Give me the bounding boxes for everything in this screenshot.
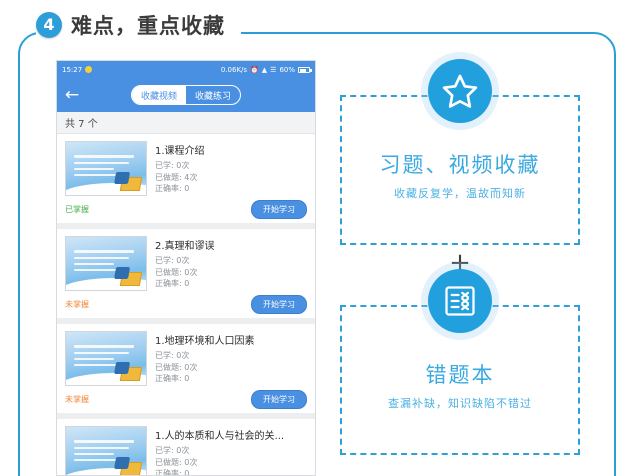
signal-icon: ☰ (270, 66, 276, 74)
battery-percent: 60% (279, 66, 295, 74)
alarm-icon: ⏰ (250, 66, 259, 74)
list-item[interactable]: 1.课程介绍 已学: 0次 已做题: 4次 正确率: 0 已掌握 开始学习 (57, 134, 315, 229)
network-speed: 0.06K/s (221, 66, 247, 74)
tab-collected-exercises[interactable]: 收藏练习 (186, 85, 240, 105)
feature-subtitle: 收藏反复学，温故而知新 (342, 185, 578, 201)
phone-status-bar: 15:27 0.06K/s ⏰ ▲ ☰ 60% (57, 61, 315, 78)
video-thumbnail (65, 236, 147, 291)
feature-title: 习题、视频收藏 (342, 149, 578, 179)
list-item[interactable]: 1.人的本质和人与社会的关... 已学: 0次 已做题: 0次 正确率: 0 未… (57, 419, 315, 476)
list-item-title: 1.课程介绍 (155, 142, 307, 157)
stat-practiced: 已做题: 4次 (155, 172, 307, 184)
start-study-button[interactable]: 开始学习 (251, 295, 307, 314)
list-item-title: 1.人的本质和人与社会的关... (155, 427, 307, 442)
section-number-badge: 4 (36, 12, 62, 38)
tab-collected-videos[interactable]: 收藏视频 (132, 85, 186, 105)
list-item-title: 1.地理环境和人口因素 (155, 332, 307, 347)
stat-practiced: 已做题: 0次 (155, 362, 307, 374)
item-count-bar: 共 7 个 (57, 112, 315, 134)
stat-practiced: 已做题: 0次 (155, 267, 307, 279)
battery-icon (298, 67, 310, 73)
poster-root: 4 难点，重点收藏 15:27 0.06K/s ⏰ ▲ ☰ 60% ← 收藏视频… (0, 0, 634, 476)
video-thumbnail (65, 141, 147, 196)
tab-group: 收藏视频 收藏练习 (131, 85, 241, 105)
feature-subtitle: 查漏补缺，知识缺陷不错过 (342, 395, 578, 411)
collection-list: 1.课程介绍 已学: 0次 已做题: 4次 正确率: 0 已掌握 开始学习 (57, 134, 315, 476)
status-time: 15:27 (62, 66, 82, 74)
stat-accuracy: 正确率: 0 (155, 278, 307, 290)
list-item[interactable]: 1.地理环境和人口因素 已学: 0次 已做题: 0次 正确率: 0 未掌握 开始… (57, 324, 315, 419)
feature-card-collections: 习题、视频收藏 收藏反复学，温故而知新 (340, 95, 580, 245)
start-study-button[interactable]: 开始学习 (251, 390, 307, 409)
dot-icon (85, 66, 92, 73)
back-arrow-icon[interactable]: ← (57, 87, 87, 104)
stat-studied: 已学: 0次 (155, 350, 307, 362)
wifi-icon: ▲ (262, 66, 267, 74)
stat-accuracy: 正确率: 0 (155, 468, 307, 476)
section-header: 4 难点，重点收藏 (36, 8, 225, 42)
wrong-question-list-icon (428, 269, 492, 333)
list-item-title: 2.真理和谬误 (155, 237, 307, 252)
stat-accuracy: 正确率: 0 (155, 373, 307, 385)
stat-studied: 已学: 0次 (155, 255, 307, 267)
phone-mockup: 15:27 0.06K/s ⏰ ▲ ☰ 60% ← 收藏视频 收藏练习 共 7 … (56, 60, 316, 476)
stat-practiced: 已做题: 0次 (155, 457, 307, 469)
video-thumbnail (65, 331, 147, 386)
status-badge: 已掌握 (65, 204, 89, 215)
start-study-button[interactable]: 开始学习 (251, 200, 307, 219)
stat-accuracy: 正确率: 0 (155, 183, 307, 195)
feature-title: 错题本 (342, 359, 578, 389)
page-title: 难点，重点收藏 (71, 10, 225, 40)
feature-card-wrong-questions: 错题本 查漏补缺，知识缺陷不错过 (340, 305, 580, 455)
status-badge: 未掌握 (65, 299, 89, 310)
status-badge: 未掌握 (65, 394, 89, 405)
stat-studied: 已学: 0次 (155, 445, 307, 457)
phone-navbar: ← 收藏视频 收藏练习 (57, 78, 315, 112)
list-item[interactable]: 2.真理和谬误 已学: 0次 已做题: 0次 正确率: 0 未掌握 开始学习 (57, 229, 315, 324)
stat-studied: 已学: 0次 (155, 160, 307, 172)
video-thumbnail (65, 426, 147, 476)
star-icon (428, 59, 492, 123)
